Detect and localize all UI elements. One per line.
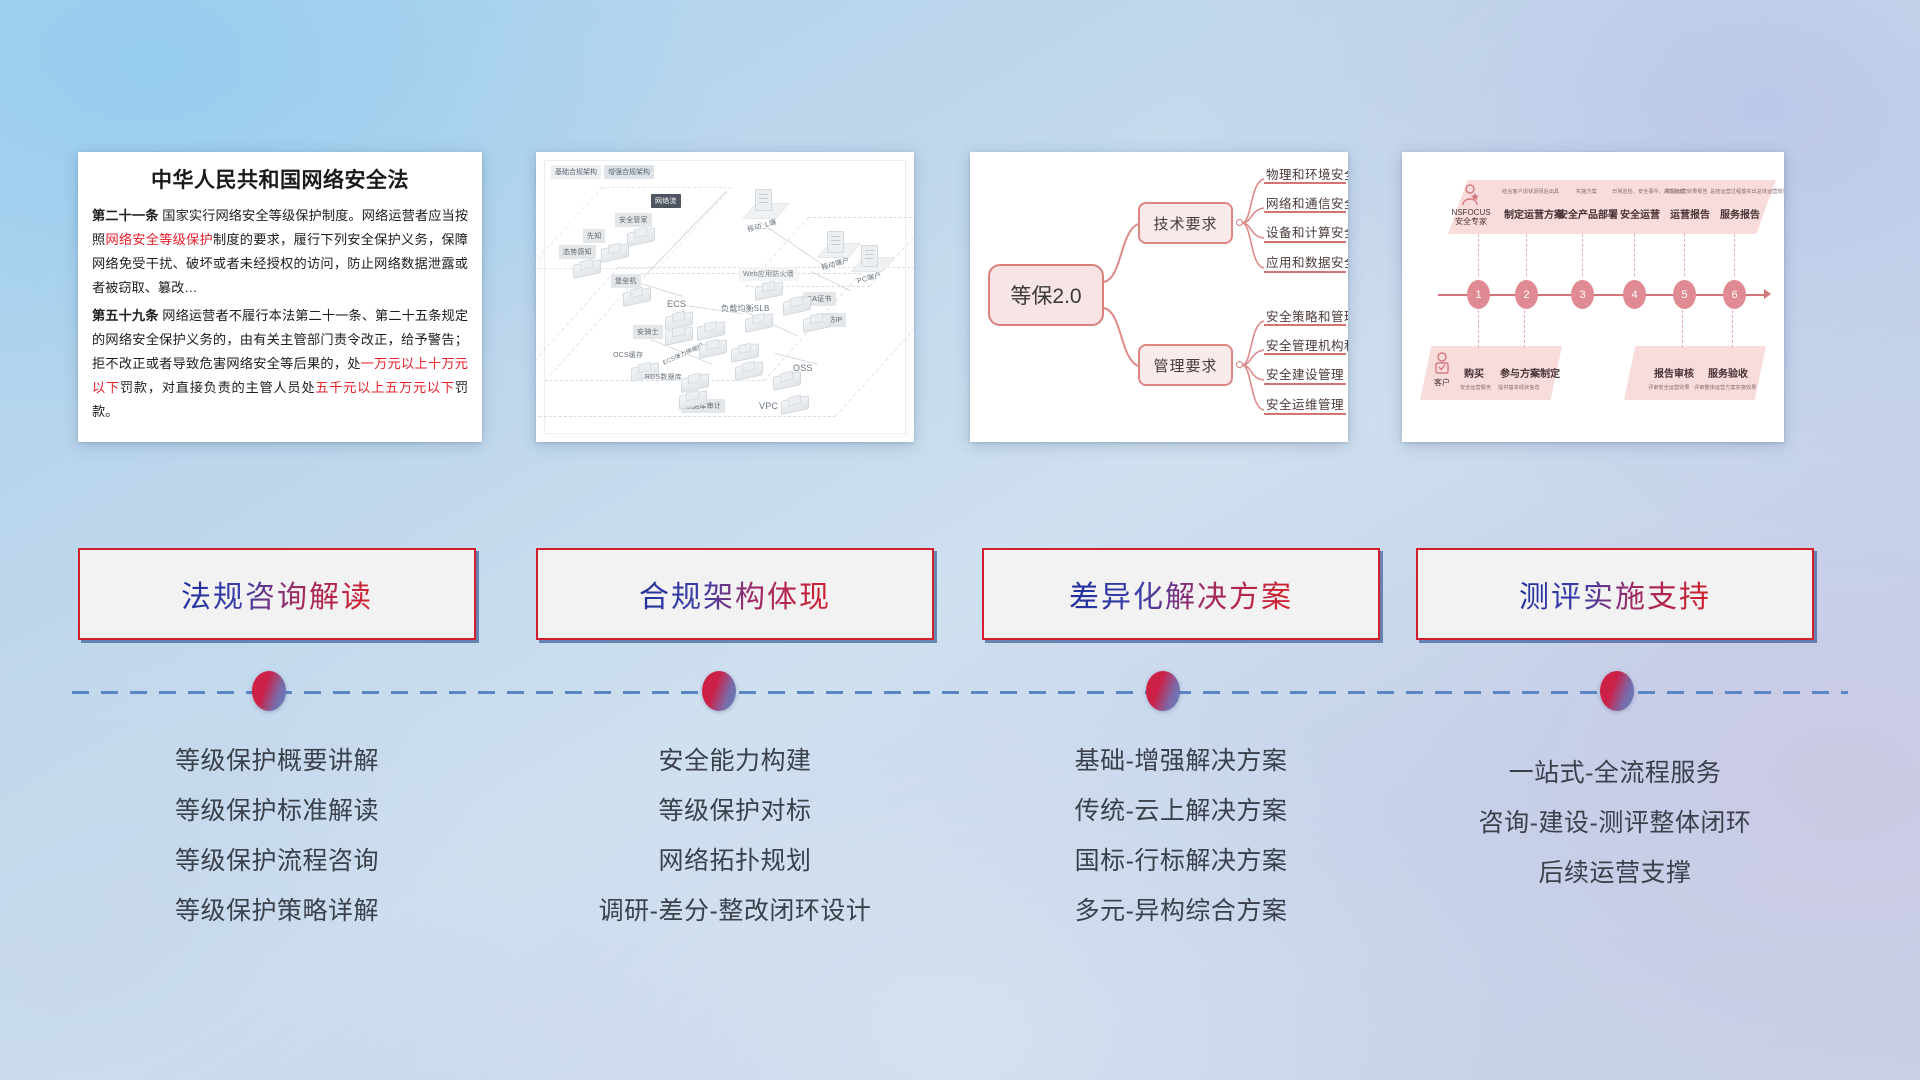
cube-db-audit: [679, 388, 705, 407]
tick-b6: [1732, 310, 1733, 348]
section-heading-label-3: 差异化解决方案: [1069, 572, 1293, 616]
law-article-59: 第五十九条 网络运营者不履行本法第二十一条、第二十五条规定的网络安全保护义务的，…: [92, 304, 468, 424]
mindmap-underline-5: [1264, 324, 1346, 326]
top-step-5-sub: 总结运营过程落实出总体运营效果: [1710, 188, 1784, 195]
bottom-step-1-sub: 安全运营服务: [1460, 384, 1491, 391]
top-step-2-title[interactable]: 安全产品部署: [1558, 206, 1618, 221]
list-item: 等级保护对标: [536, 786, 934, 836]
bottom-step-1-title[interactable]: 购买: [1464, 365, 1484, 380]
mindmap-leaf-app-data-security[interactable]: 应用和数据安全: [1266, 252, 1348, 271]
section-headings-row: 法规咨询解读 合规架构体现 差异化解决方案 测评实施支持: [0, 548, 1920, 640]
top-step-4-title[interactable]: 运营报告: [1670, 206, 1710, 221]
brand-label: NSFOCUS 安全专家: [1446, 208, 1496, 226]
card-dengbao-mindmap[interactable]: 等保2.0 技术要求 管理要求 物理和环境安全 网络和通信安全 设备和计算安全 …: [970, 152, 1348, 442]
cube-vpc: [781, 393, 807, 412]
mindmap-underline-4: [1264, 271, 1346, 273]
section-heading-box-4[interactable]: 测评实施支持: [1416, 548, 1814, 640]
top-step-2-sub: 实施方案: [1576, 188, 1597, 195]
mindmap-canvas: 等保2.0 技术要求 管理要求 物理和环境安全 网络和通信安全 设备和计算安全 …: [970, 152, 1348, 442]
mindmap-branch-technical[interactable]: 技术要求: [1138, 202, 1233, 244]
architecture-canvas: 基础合规架构 增强合规架构 网络流 安全管家: [544, 160, 906, 434]
list-item: 安全能力构建: [536, 736, 934, 786]
cube-situational-awareness: [573, 257, 599, 276]
cube-security-butler: [627, 225, 653, 244]
list-item: 国标-行标解决方案: [982, 836, 1380, 886]
cube-scale-2: [699, 337, 725, 356]
top-step-4-sub: 阶段运营效果报告: [1666, 188, 1708, 195]
cube-oss: [773, 369, 799, 388]
brand-sub: 安全专家: [1455, 217, 1487, 226]
list-item: 等级保护策略详解: [78, 886, 476, 936]
mindmap-root[interactable]: 等保2.0: [988, 264, 1104, 326]
customer-label: 客户: [1430, 378, 1454, 387]
expert-person-icon: [1460, 184, 1480, 206]
list-item: 一站式-全流程服务: [1416, 748, 1814, 798]
timeline-node-6[interactable]: 6: [1723, 280, 1746, 309]
top-step-3-title[interactable]: 安全运营: [1620, 206, 1660, 221]
timeline-marker-4[interactable]: [1600, 671, 1634, 711]
mindmap-collapse-dot-technical[interactable]: [1236, 219, 1243, 226]
node-vpc[interactable]: VPC: [755, 399, 782, 413]
section-items-col-2: 安全能力构建 等级保护对标 网络拓扑规划 调研-差分-整改闭环设计: [536, 736, 934, 936]
architecture-tabs[interactable]: 基础合规架构 增强合规架构: [551, 165, 654, 179]
cube-bastion-host: [623, 285, 649, 304]
server-pc-client: [861, 245, 878, 267]
cube-anqishi: [665, 324, 691, 343]
list-item: 基础-增强解决方案: [982, 736, 1380, 786]
mindmap-underline-2: [1264, 211, 1346, 213]
tick-5: [1684, 234, 1685, 276]
mindmap-underline-7: [1264, 383, 1346, 385]
list-item: 多元-异构综合方案: [982, 886, 1380, 936]
law-article-59-label: 第五十九条: [92, 308, 159, 323]
list-item: 网络拓扑规划: [536, 836, 934, 886]
list-item: 等级保护流程咨询: [78, 836, 476, 886]
cube-slb: [745, 311, 771, 330]
law-article-59-mid: 罚款，对直接负责的主管人员处: [120, 380, 315, 395]
server-mobile-l: [755, 189, 772, 211]
law-article-21-highlight: 网络安全等级保护: [105, 232, 213, 247]
mindmap-branch-management[interactable]: 管理要求: [1138, 344, 1233, 386]
top-step-1-title[interactable]: 制定运营方案: [1504, 206, 1564, 221]
mindmap-leaf-device-compute-security[interactable]: 设备和计算安全: [1266, 222, 1348, 241]
node-rds-database[interactable]: RDS数据库: [641, 370, 686, 384]
bottom-review-2-title[interactable]: 服务验收: [1708, 365, 1748, 380]
law-article-21: 第二十一条 国家实行网络安全等级保护制度。网络运营者应当按照网络安全等级保护制度…: [92, 204, 468, 300]
bottom-review-1-title[interactable]: 报告审核: [1654, 365, 1694, 380]
bottom-review-2-sub: 评审整体运营方案实施效果: [1694, 384, 1756, 391]
top-step-5-title[interactable]: 服务报告: [1720, 206, 1760, 221]
cube-scale-4: [735, 359, 761, 378]
section-items-col-4: 一站式-全流程服务 咨询-建设-测评整体闭环 后续运营支撑: [1416, 748, 1814, 898]
customer-person-icon: [1432, 352, 1452, 376]
timeline-node-2[interactable]: 2: [1515, 280, 1538, 309]
tab-basic-compliance[interactable]: 基础合规架构: [551, 165, 601, 179]
section-heading-label-4: 测评实施支持: [1519, 572, 1711, 616]
section-items-col-1: 等级保护概要讲解 等级保护标准解读 等级保护流程咨询 等级保护策略详解: [78, 736, 476, 936]
mindmap-leaf-security-build-mgmt[interactable]: 安全建设管理: [1266, 364, 1344, 383]
card-cloud-architecture[interactable]: 基础合规架构 增强合规架构 网络流 安全管家: [536, 152, 914, 442]
mindmap-leaf-security-policy[interactable]: 安全策略和管理制度: [1266, 306, 1348, 325]
mindmap-leaf-physical-env-security[interactable]: 物理和环境安全: [1266, 164, 1348, 183]
timeline-marker-1[interactable]: [252, 671, 286, 711]
dashed-timeline: [0, 668, 1920, 716]
mindmap-underline-1: [1264, 182, 1346, 184]
list-item: 调研-差分-整改闭环设计: [536, 886, 934, 936]
list-item: 等级保护概要讲解: [78, 736, 476, 786]
server-mobile-client: [827, 231, 844, 253]
tick-2: [1526, 234, 1527, 276]
timeline-node-3[interactable]: 3: [1571, 280, 1594, 309]
tick-3: [1582, 234, 1583, 276]
timeline-dashed-line: [72, 691, 1848, 694]
cube-waf: [755, 279, 781, 298]
node-anqishi[interactable]: 安骑士: [633, 325, 663, 339]
timeline-marker-3[interactable]: [1146, 671, 1180, 711]
timeline-node-1[interactable]: 1: [1467, 280, 1490, 309]
timeline-node-5[interactable]: 5: [1673, 280, 1696, 309]
mindmap-underline-8: [1264, 413, 1346, 415]
timeline-node-4[interactable]: 4: [1623, 280, 1646, 309]
list-item: 咨询-建设-测评整体闭环: [1416, 798, 1814, 848]
section-heading-box-2[interactable]: 合规架构体现: [536, 548, 934, 640]
cube-high-defense-ip: [803, 311, 829, 330]
timeline-arrow-icon: [1764, 289, 1771, 299]
tick-b1: [1478, 310, 1479, 348]
section-heading-label-1: 法规咨询解读: [181, 572, 373, 616]
cube-xianzhi: [601, 241, 627, 260]
timeline-marker-2[interactable]: [702, 671, 736, 711]
mindmap-underline-6: [1264, 353, 1346, 355]
preview-cards-row: 中华人民共和国网络安全法 第二十一条 国家实行网络安全等级保护制度。网络运营者应…: [0, 152, 1920, 452]
tick-4: [1634, 234, 1635, 276]
bottom-step-2-title[interactable]: 参与方案制定: [1500, 365, 1560, 380]
card-cybersecurity-law[interactable]: 中华人民共和国网络安全法 第二十一条 国家实行网络安全等级保护制度。网络运营者应…: [78, 152, 482, 442]
section-heading-label-2: 合规架构体现: [639, 572, 831, 616]
bottom-review-1-sub: 评审安全运营效果: [1648, 384, 1690, 391]
mindmap-leaf-security-ops-mgmt[interactable]: 安全运维管理: [1266, 394, 1344, 413]
node-network-flow[interactable]: 网络流: [651, 194, 681, 208]
card-service-timeline[interactable]: NSFOCUS 安全专家 结合客户现状调研后出具 制定运营方案 实施方案 安全产…: [1402, 152, 1784, 442]
tick-6: [1734, 234, 1735, 276]
tick-b2: [1524, 310, 1525, 348]
section-items-col-3: 基础-增强解决方案 传统-云上解决方案 国标-行标解决方案 多元-异构综合方案: [982, 736, 1380, 936]
brand-name: NSFOCUS: [1451, 208, 1490, 217]
list-item: 后续运营支撑: [1416, 848, 1814, 898]
mindmap-collapse-dot-management[interactable]: [1236, 361, 1243, 368]
section-items-row: 等级保护概要讲解 等级保护标准解读 等级保护流程咨询 等级保护策略详解 安全能力…: [0, 736, 1920, 976]
law-title: 中华人民共和国网络安全法: [78, 164, 482, 194]
section-heading-box-1[interactable]: 法规咨询解读: [78, 548, 476, 640]
section-heading-box-3[interactable]: 差异化解决方案: [982, 548, 1380, 640]
list-item: 传统-云上解决方案: [982, 786, 1380, 836]
law-article-59-highlight2: 五千元以上五万元以下: [315, 380, 455, 395]
law-body: 第二十一条 国家实行网络安全等级保护制度。网络运营者应当按照网络安全等级保护制度…: [78, 194, 482, 424]
top-step-1-sub: 结合客户现状调研后出具: [1502, 188, 1559, 195]
bottom-step-2-sub: 提供基本现状信息: [1498, 384, 1540, 391]
tab-enhanced-compliance[interactable]: 增强合规架构: [604, 165, 654, 179]
law-article-21-label: 第二十一条: [92, 208, 159, 223]
list-item: 等级保护标准解读: [78, 786, 476, 836]
mindmap-underline-3: [1264, 241, 1346, 243]
mindmap-leaf-network-comm-security[interactable]: 网络和通信安全: [1266, 193, 1348, 212]
mindmap-leaf-security-org[interactable]: 安全管理机构和人员: [1266, 335, 1348, 354]
tick-b5: [1682, 310, 1683, 348]
tick-1: [1478, 234, 1479, 276]
service-timeline-canvas: NSFOCUS 安全专家 结合客户现状调研后出具 制定运营方案 实施方案 安全产…: [1416, 162, 1770, 432]
